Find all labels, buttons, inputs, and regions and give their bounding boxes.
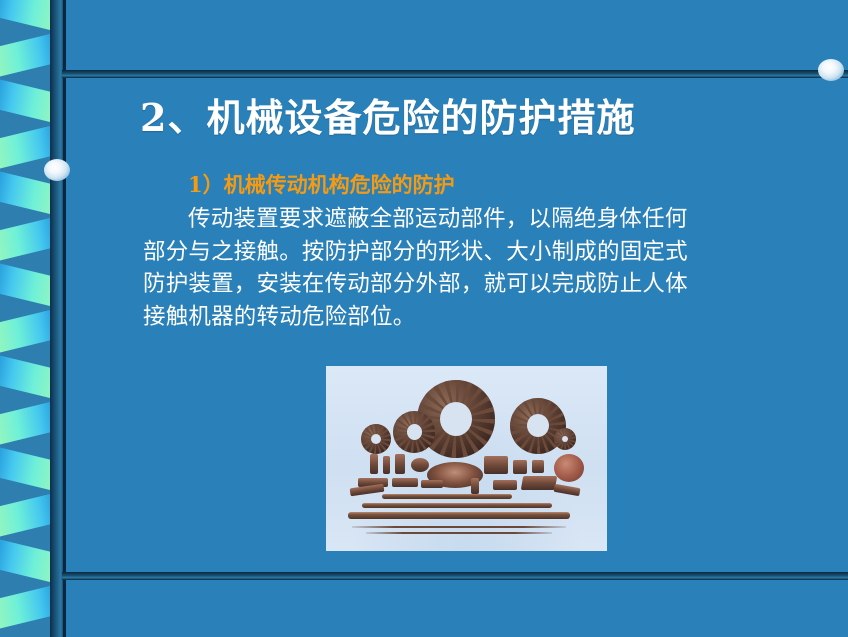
ribbon-segment xyxy=(0,584,52,630)
part-cluster xyxy=(484,456,508,474)
part-wedge xyxy=(521,476,557,490)
transmission-parts-photo xyxy=(326,366,607,551)
gear-small-left xyxy=(361,424,391,454)
shaft xyxy=(348,512,570,519)
ribbon-segment xyxy=(0,124,52,170)
body-line: 传动装置要求遮蔽全部运动部件，以隔绝身体任何 xyxy=(143,203,813,236)
part-block xyxy=(532,460,544,473)
divider-line-top xyxy=(62,70,848,78)
body-paragraph: 传动装置要求遮蔽全部运动部件，以隔绝身体任何 部分与之接触。按防护部分的形状、大… xyxy=(143,203,813,333)
part-pin xyxy=(554,484,581,496)
ribbon-segment xyxy=(0,538,52,584)
section-subtitle: 1）机械传动机构危险的防护 xyxy=(188,171,455,199)
ribbon-pillar-edge xyxy=(63,0,66,637)
ribbon-segment xyxy=(0,216,52,262)
part-bushing xyxy=(383,456,390,474)
ribbon-segment xyxy=(0,492,52,538)
page-title: 2、机械设备危险的防护措施 xyxy=(140,93,820,143)
part-bushing xyxy=(370,454,378,474)
shaft xyxy=(382,494,512,499)
ribbon-segment xyxy=(0,446,52,492)
shaft-thin xyxy=(366,532,552,534)
ribbon-segment xyxy=(0,400,52,446)
part-bushing xyxy=(395,454,405,474)
body-line: 部分与之接触。按防护部分的形状、大小制成的固定式 xyxy=(143,236,813,269)
part-pin xyxy=(350,484,385,497)
ribbon-segment xyxy=(0,170,52,216)
shaft xyxy=(362,503,552,508)
gear-medium-left xyxy=(393,411,435,453)
gear-tiny-right xyxy=(554,428,576,450)
part-key xyxy=(493,480,517,490)
part-collar xyxy=(411,458,429,472)
ribbon-segment xyxy=(0,308,52,354)
ribbon-segment xyxy=(0,354,52,400)
body-line: 防护装置，安装在传动部分外部，就可以完成防止人体 xyxy=(143,268,813,301)
ribbon-segment xyxy=(0,78,52,124)
zigzag-ribbon xyxy=(0,0,52,637)
pulley-disc xyxy=(554,454,584,482)
part-key xyxy=(392,478,418,487)
body-line: 接触机器的转动危险部位。 xyxy=(143,301,813,334)
gear-hub xyxy=(440,402,472,436)
gear-hub xyxy=(527,414,549,437)
ribbon-segment xyxy=(0,262,52,308)
part-key xyxy=(421,480,443,488)
gear-hub xyxy=(371,434,381,444)
glow-dot-left-icon xyxy=(44,159,70,181)
photo-surface xyxy=(326,366,607,551)
shaft-thin xyxy=(352,526,566,528)
gear-hub xyxy=(562,436,568,442)
part-key xyxy=(471,478,479,494)
part-block xyxy=(513,460,527,474)
glow-dot-right-icon xyxy=(818,59,844,81)
slide-canvas: 2、机械设备危险的防护措施 1）机械传动机构危险的防护 传动装置要求遮蔽全部运动… xyxy=(0,0,848,637)
divider-line-bottom xyxy=(62,572,848,580)
ribbon-segment xyxy=(0,32,52,78)
ribbon-pillar xyxy=(50,0,64,637)
ribbon-segment xyxy=(0,0,52,32)
gear-hub xyxy=(407,424,422,440)
